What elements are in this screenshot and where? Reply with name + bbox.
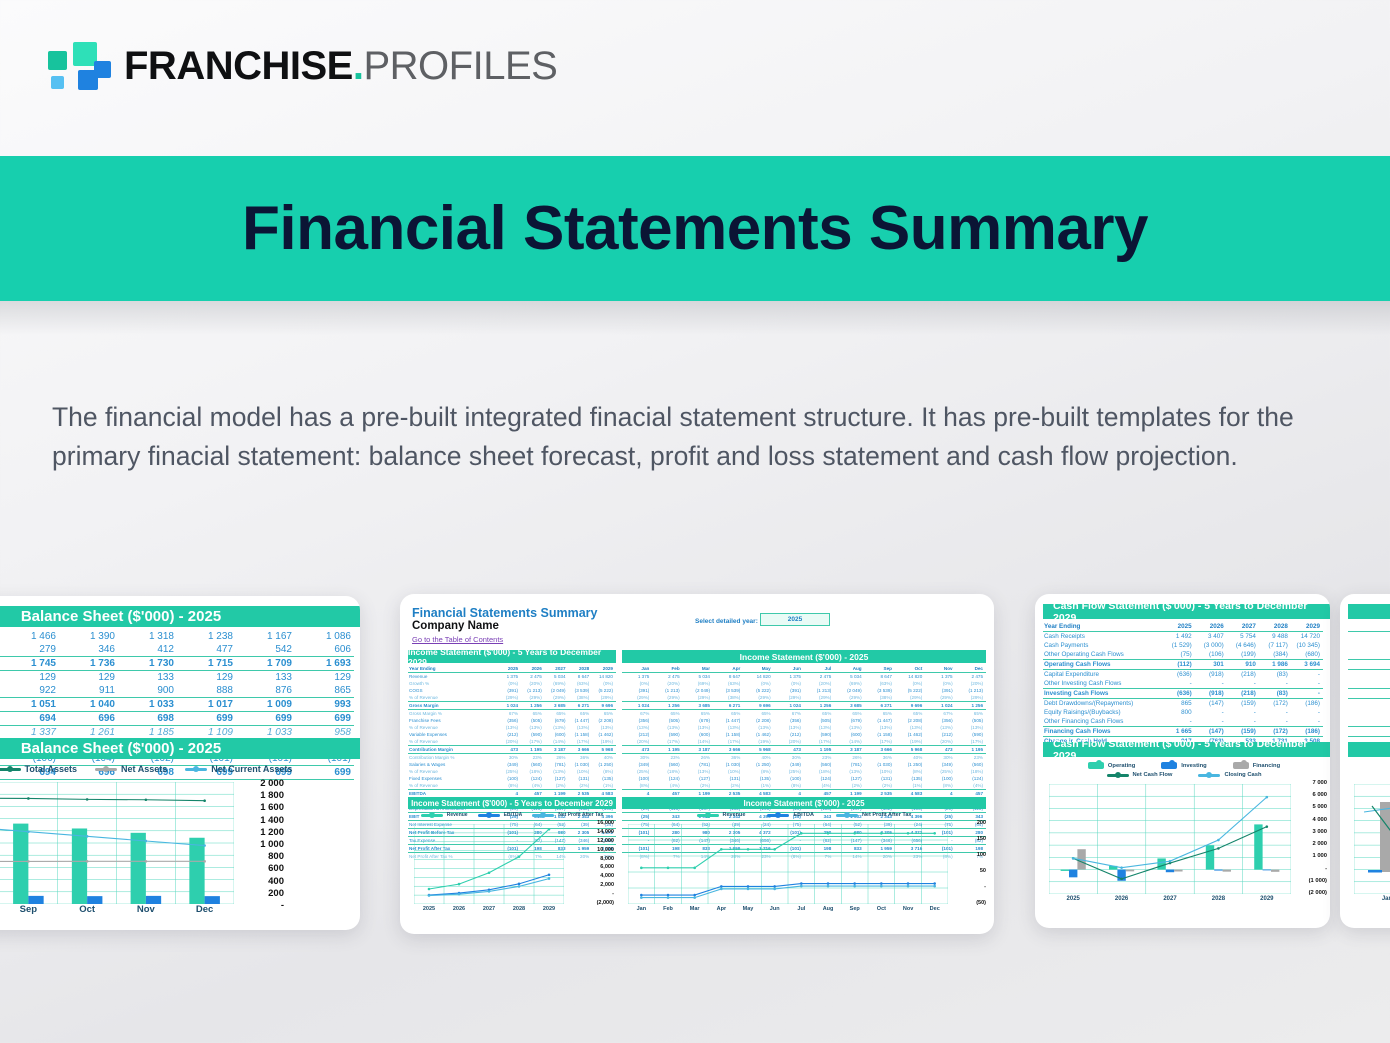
row-label: Other Investing Cash Flows: [1043, 679, 1163, 689]
table-cell: (147): [1195, 699, 1227, 709]
table-cell: (505): [956, 717, 986, 724]
row-label: Other Financing Cash Flows: [1043, 717, 1163, 727]
table-cell: 5 034: [834, 673, 864, 681]
table-cell: (1 213): [652, 687, 682, 694]
table-cell: 1 261: [59, 726, 118, 740]
year-selector-label: Select detailed year:: [695, 618, 758, 625]
monthly-cf-table-band: [1348, 604, 1390, 619]
table-cell: (25%): [774, 768, 804, 775]
table-cell: (10%): [713, 768, 743, 775]
table-cell: 5 968: [592, 746, 616, 754]
year-selector-input[interactable]: 2025: [760, 613, 830, 626]
legend-label: Net Current Assets: [211, 764, 292, 774]
axis-tick: 10,000: [597, 847, 614, 853]
axis-tick: 7 000: [1312, 780, 1327, 786]
table-cell: (391): [622, 687, 652, 694]
table-cell: 23%: [521, 754, 545, 762]
table-row: Revenue1 3752 4755 0348 64714 820: [408, 673, 616, 681]
table-row: (22): [1348, 660, 1390, 670]
table-cell: 699: [295, 712, 354, 726]
axis-tick: 4 000: [1312, 817, 1327, 823]
table-cell: (4 646): [1227, 641, 1259, 650]
table-cell: (560): [521, 761, 545, 768]
table-cell: Aug: [834, 665, 864, 673]
table-cell: 1 736: [59, 657, 118, 671]
table-row: -: [1348, 717, 1390, 727]
axis-tick: (50): [976, 900, 986, 906]
axis-tick: Oct: [58, 904, 117, 915]
cash-flow-card[interactable]: Cash Flow Statement ($'000) - 5 Years to…: [1035, 594, 1330, 928]
table-cell: 14 720: [1291, 632, 1323, 642]
legend-row: Net Cash FlowClosing Cash: [1049, 772, 1319, 778]
table-cell: (159): [1227, 699, 1259, 709]
table-cell: (1 529): [1163, 641, 1195, 650]
table-cell: (29%): [497, 694, 521, 702]
table-cell: (2%): [713, 782, 743, 790]
table-row: Cash Receipts1 4923 4075 7549 48814 720: [1043, 632, 1323, 642]
table-cell: 1 024: [925, 702, 955, 710]
row-label: % of Revenue: [408, 694, 497, 702]
table-cell: 699: [177, 712, 236, 726]
table-cell: (13%): [834, 768, 864, 775]
axis-tick: May: [735, 906, 762, 912]
table-cell: 1 256: [521, 702, 545, 710]
legend-item: Net Cash Flow: [1107, 772, 1173, 778]
axis-tick: 2027: [1146, 896, 1194, 902]
axis-tick: -: [984, 884, 986, 890]
axis-tick: Sep: [0, 904, 58, 915]
table-cell: (391): [925, 687, 955, 694]
legend-label: Revenue: [447, 812, 468, 818]
balance-sheet-card[interactable]: Balance Sheet ($'000) - 2025 1 5711 5171…: [0, 596, 360, 930]
table-cell: (25%): [925, 768, 955, 775]
monthly-cf-x-axis: Jan: [1354, 896, 1390, 902]
table-cell: 473: [622, 746, 652, 754]
table-row: 1 5711 5171 4661 3901 3181 2381 1671 086: [0, 630, 354, 643]
row-label: % of Revenue: [408, 782, 497, 790]
table-cell: 23%: [804, 754, 834, 762]
table-cell: (18%): [652, 768, 682, 775]
table-cell: 1 745: [0, 657, 59, 671]
table-cell: (781): [545, 761, 569, 768]
table-cell: (1 462): [743, 731, 773, 738]
table-cell: 1 195: [521, 746, 545, 754]
table-cell: -: [1291, 708, 1323, 717]
income-5y-chart: [414, 824, 564, 904]
table-row: Capital Expenditure(636)(918)(218)(83)-: [1043, 670, 1323, 680]
table-cell: 800: [1163, 708, 1195, 717]
table-cell: (186): [1291, 727, 1323, 737]
table-cell: (505): [804, 717, 834, 724]
table-cell: 473: [774, 746, 804, 754]
table-cell: (127): [834, 775, 864, 782]
row-label: Growth %: [408, 680, 497, 687]
table-cell: (29%): [592, 694, 616, 702]
table-cell: (18%): [521, 768, 545, 775]
monthly-cash-flow-card[interactable]: Jan32(47)(7)(22)(36)-(36)989800-1 7891 7…: [1340, 594, 1390, 928]
table-row: -: [1348, 679, 1390, 689]
table-cell: 1 256: [652, 702, 682, 710]
table-row: (391)(1 213)(2 049)(3 539)(5 222)(391)(1…: [622, 687, 986, 694]
table-row: 178212279346412477542606: [0, 643, 354, 657]
table-cell: (679): [545, 717, 569, 724]
table-cell: (2 049): [683, 687, 713, 694]
axis-tick: Mar: [681, 906, 708, 912]
legend-item: Operating: [1088, 762, 1135, 769]
table-cell: (100): [925, 775, 955, 782]
row-label: Operating Cash Flows: [1043, 660, 1163, 670]
table-cell: (636): [1163, 670, 1195, 680]
table-cell: (127): [683, 775, 713, 782]
table-cell: 958: [295, 726, 354, 740]
row-label: Investing Cash Flows: [1043, 689, 1163, 699]
table-row: JanFebMarAprMayJunJulAugSepOctNovDec: [622, 665, 986, 673]
table-cell: (13%): [743, 724, 773, 731]
table-cell: 1 375: [925, 673, 955, 681]
table-cell: (100): [622, 775, 652, 782]
table-cell: 1 986: [1259, 660, 1291, 670]
table-cell: -: [1163, 717, 1195, 727]
axis-tick: Sep: [841, 906, 868, 912]
axis-tick: 2025: [1049, 896, 1097, 902]
table-cell: (3 539): [713, 687, 743, 694]
table-cell: (29%): [925, 694, 955, 702]
table-cell: 9 696: [895, 702, 925, 710]
table-cell: (14%): [834, 738, 864, 746]
row-label: % of Revenue: [408, 768, 497, 775]
table-cell: (20%): [774, 738, 804, 746]
table-row: (20%)(17%)(14%)(17%)(19%)(20%)(17%)(14%)…: [622, 738, 986, 746]
legend-label: Operating: [1108, 763, 1135, 769]
table-cell: (1%): [743, 782, 773, 790]
axis-tick: 2028: [1194, 896, 1242, 902]
axis-tick: 1 000: [1312, 853, 1327, 859]
table-cell: (20%): [622, 738, 652, 746]
legend-swatch: [95, 768, 117, 771]
table-cell: (131): [865, 775, 895, 782]
table-cell: (29%): [804, 694, 834, 702]
table-row: 101104129129133129133129: [0, 671, 354, 685]
table-cell: (13%): [683, 768, 713, 775]
monthly-cf-chart-band: [1348, 742, 1390, 757]
table-cell: (5 222): [592, 687, 616, 694]
table-cell: 36%: [713, 754, 743, 762]
table-cell: 1 024: [622, 702, 652, 710]
table-cell: 2028: [569, 665, 593, 673]
table-cell: 1 715: [177, 657, 236, 671]
table-cell: (7): [1348, 650, 1390, 660]
table-cell: (0%): [774, 680, 804, 687]
table-cell: Oct: [895, 665, 925, 673]
table-cell: (29%): [895, 694, 925, 702]
table-cell: 694: [0, 712, 59, 726]
income-5y-y-axis: 16,00014,00012,00010,0008,0006,0004,0002…: [566, 820, 614, 908]
table-row: (356)(505)(679)(1 447)(2 208)(356)(505)(…: [622, 717, 986, 724]
table-cell: 129: [295, 671, 354, 685]
table-cell: (1 447): [713, 717, 743, 724]
income-5y-chart-band: Income Statement ($'000) - 5 Years to De…: [408, 797, 616, 809]
table-row: Gross Margin %67%65%65%65%65%: [408, 710, 616, 718]
legend-swatch: [1107, 774, 1129, 777]
table-cell: (4%): [652, 782, 682, 790]
row-label: % of Revenue: [408, 738, 497, 746]
table-cell: (100): [497, 775, 521, 782]
income-statement-card[interactable]: Financial Statements Summary Company Nam…: [400, 594, 994, 934]
table-cell: (8%): [592, 768, 616, 775]
legend-swatch: [1088, 762, 1104, 769]
table-cell: 5 034: [683, 673, 713, 681]
legend-swatch: [767, 814, 789, 817]
legend-label: EBITDA: [504, 812, 523, 818]
table-cell: (124): [652, 775, 682, 782]
income-5y-legend: RevenueEBITDANet Profit After Tax: [408, 812, 616, 818]
legend-item: Revenue: [421, 812, 468, 818]
table-row: 945934922911900888876865: [0, 684, 354, 698]
axis-tick: 400: [268, 876, 284, 887]
table-cell: (1 158): [713, 731, 743, 738]
table-cell: Jan: [622, 665, 652, 673]
axis-tick: 2026: [1097, 896, 1145, 902]
table-cell: (29%): [683, 694, 713, 702]
table-row: (13%)(13%)(13%)(13%)(13%)(13%)(13%)(13%)…: [622, 724, 986, 731]
table-cell: 1 693: [295, 657, 354, 671]
table-cell: (13%): [497, 724, 521, 731]
balance-sheet-legend: Current LiabilitiesTotal AssetsNet Asset…: [0, 764, 360, 774]
table-cell: -: [1227, 708, 1259, 717]
table-cell: (10%): [865, 768, 895, 775]
row-label: Cash Payments: [1043, 641, 1163, 650]
row-label: Revenue: [408, 673, 497, 681]
row-label: COGS: [408, 687, 497, 694]
table-cell: 1 185: [118, 726, 177, 740]
table-cell: 1 337: [0, 726, 59, 740]
table-cell: (20%): [497, 738, 521, 746]
table-cell: 8 647: [713, 673, 743, 681]
legend-swatch: [1198, 774, 1220, 777]
axis-tick: 2027: [474, 906, 504, 912]
axis-tick: 2029: [534, 906, 564, 912]
legend-swatch: [1233, 762, 1249, 769]
table-cell: (590): [804, 731, 834, 738]
table-cell: 3 685: [545, 702, 569, 710]
table-cell: 3 685: [683, 702, 713, 710]
table-cell: 1 466: [0, 630, 59, 643]
table-cell: 922: [0, 684, 59, 698]
table-cell: 36%: [569, 754, 593, 762]
table-cell: -: [1291, 670, 1323, 680]
axis-tick: (2,000): [597, 900, 614, 906]
table-cell: 2027: [545, 665, 569, 673]
table-cell: (384): [1259, 650, 1291, 660]
table-cell: 1 730: [118, 657, 177, 671]
table-cell: (356): [497, 717, 521, 724]
table-row: (349)(560)(781)(1 030)(1 250)(349)(560)(…: [622, 761, 986, 768]
table-cell: (172): [1259, 727, 1291, 737]
table-cell: -: [1163, 679, 1195, 689]
table-cell: 5 754: [1227, 632, 1259, 642]
axis-tick: 4,000: [600, 873, 614, 879]
axis-tick: 14,000: [597, 829, 614, 835]
table-cell: 1 195: [804, 746, 834, 754]
table-cell: 1 256: [956, 702, 986, 710]
table-cell: Sep: [865, 665, 895, 673]
table-cell: 473: [497, 746, 521, 754]
page-header: FRANCHISE.PROFILES: [0, 0, 1390, 155]
table-row: Debt Drawdowns/(Repayments)865(147)(159)…: [1043, 699, 1323, 709]
table-cell: 876: [236, 684, 295, 698]
body-paragraph: The financial model has a pre-built inte…: [52, 398, 1337, 476]
table-cell: 2029: [592, 665, 616, 673]
legend-item: Net Current Assets: [185, 764, 292, 774]
axis-tick: 5 000: [1312, 804, 1327, 810]
table-cell: (17%): [569, 738, 593, 746]
axis-tick: Oct: [868, 906, 895, 912]
table-row: (8%)(4%)(2%)(2%)(1%)(8%)(4%)(2%)(2%)(1%)…: [622, 782, 986, 790]
table-cell: 8 647: [865, 673, 895, 681]
table-cell: (29%): [545, 694, 569, 702]
table-of-contents-link[interactable]: Go to the Table of Contents: [412, 635, 503, 644]
table-cell: (135): [743, 775, 773, 782]
table-cell: 477: [177, 643, 236, 657]
table-cell: (8%): [774, 782, 804, 790]
table-row: (212)(590)(600)(1 158)(1 462)(212)(590)(…: [622, 731, 986, 738]
table-cell: (25%): [497, 768, 521, 775]
table-row: (100)(124)(127)(131)(135)(100)(124)(127)…: [622, 775, 986, 782]
table-cell: (5 222): [743, 687, 773, 694]
income-year-x-axis: JanFebMarAprMayJunJulAugSepOctNovDec: [628, 906, 948, 912]
table-cell: (36): [1348, 689, 1390, 699]
table-cell: -: [1195, 708, 1227, 717]
axis-tick: Dec: [175, 904, 234, 915]
axis-tick: 1 800: [260, 790, 284, 801]
table-cell: -: [1291, 679, 1323, 689]
table-cell: (349): [925, 761, 955, 768]
monthly-cf-chart: [1354, 784, 1390, 894]
table-cell: -: [1195, 717, 1227, 727]
table-cell: Apr: [713, 665, 743, 673]
axis-tick: 3 000: [1312, 829, 1327, 835]
row-label: Salaries & Wages: [408, 761, 497, 768]
table-row: Investing Cash Flows(636)(918)(218)(83)-: [1043, 689, 1323, 699]
axis-tick: 2025: [414, 906, 444, 912]
table-cell: 542: [236, 643, 295, 657]
row-label: Franchise Fees: [408, 717, 497, 724]
table-cell: -: [1259, 717, 1291, 727]
table-cell: (1 250): [895, 761, 925, 768]
table-cell: (8%): [743, 768, 773, 775]
table-cell: (13%): [592, 724, 616, 731]
axis-tick: 200: [268, 888, 284, 899]
table-cell: (212): [774, 731, 804, 738]
table-cell: (0%): [592, 680, 616, 687]
row-label: Debt Drawdowns/(Repayments): [1043, 699, 1163, 709]
table-cell: (17%): [956, 738, 986, 746]
table-cell: (349): [622, 761, 652, 768]
table-cell: 1 086: [295, 630, 354, 643]
table-cell: (8%): [925, 782, 955, 790]
table-cell: -: [1348, 679, 1390, 689]
table-cell: (20%): [521, 680, 545, 687]
legend-item: Total Assets: [0, 764, 77, 774]
table-cell: 473: [925, 746, 955, 754]
axis-tick: 1 000: [260, 839, 284, 850]
table-cell: (20%): [652, 680, 682, 687]
table-cell: (2%): [865, 782, 895, 790]
table-row: 989: [1348, 699, 1390, 709]
table-cell: 3 666: [865, 746, 895, 754]
table-cell: (124): [521, 775, 545, 782]
table-cell: (13%): [956, 724, 986, 731]
table-cell: (199): [1227, 650, 1259, 660]
table-cell: (38%): [713, 694, 743, 702]
table-cell: (560): [652, 761, 682, 768]
table-cell: 1 492: [1163, 632, 1195, 642]
table-cell: May: [743, 665, 773, 673]
table-cell: (1 250): [743, 761, 773, 768]
table-cell: 1 256: [804, 702, 834, 710]
axis-tick: 1 200: [260, 827, 284, 838]
table-cell: 910: [1227, 660, 1259, 670]
table-cell: (2%): [834, 782, 864, 790]
row-label: Contribution Margin %: [408, 754, 497, 762]
table-cell: (560): [956, 761, 986, 768]
table-cell: (2%): [545, 782, 569, 790]
table-cell: (1%): [592, 782, 616, 790]
table-cell: (1 158): [569, 731, 593, 738]
income-card-title: Financial Statements Summary: [412, 606, 597, 620]
row-label: Fixed Expenses: [408, 775, 497, 782]
table-cell: 699: [236, 712, 295, 726]
table-cell: 696: [59, 712, 118, 726]
table-row: 30%23%26%36%40%30%23%26%36%40%30%23%: [622, 754, 986, 762]
table-row: Fixed Expenses(100)(124)(127)(131)(135): [408, 775, 616, 782]
table-row: Year Ending20252026202720282029: [1043, 622, 1323, 632]
table-cell: Mar: [683, 665, 713, 673]
axis-tick: 2028: [504, 906, 534, 912]
brand-wordmark: FRANCHISE.PROFILES: [124, 46, 557, 86]
axis-tick: -: [612, 891, 614, 897]
table-cell: (13%): [804, 724, 834, 731]
table-cell: (590): [521, 731, 545, 738]
cash-flow-table-title: Cash Flow Statement ($'000) - 5 Years to…: [1043, 604, 1330, 619]
table-cell: (13%): [545, 724, 569, 731]
axis-tick: Jan: [628, 906, 655, 912]
table-cell: (17%): [804, 738, 834, 746]
table-cell: 67%: [925, 710, 955, 718]
table-cell: (13%): [774, 724, 804, 731]
table-cell: (1 462): [592, 731, 616, 738]
table-cell: 698: [118, 712, 177, 726]
axis-tick: Nov: [895, 906, 922, 912]
table-cell: -: [1259, 708, 1291, 717]
table-cell: 800: [1348, 708, 1390, 717]
table-cell: 1 238: [177, 630, 236, 643]
cash-flow-x-axis: 20252026202720282029: [1049, 896, 1291, 902]
table-cell: (19%): [895, 738, 925, 746]
table-cell: 65%: [683, 710, 713, 718]
table-cell: (212): [497, 731, 521, 738]
table-cell: (29%): [956, 694, 986, 702]
table-cell: (13%): [925, 724, 955, 731]
table-cell: 40%: [743, 754, 773, 762]
table-row: Cash Payments(1 529)(3 000)(4 646)(7 117…: [1043, 641, 1323, 650]
axis-tick: 2026: [444, 906, 474, 912]
table-cell: (69%): [545, 680, 569, 687]
cash-flow-y-axis: 7 0006 0005 0004 0003 0002 0001 000-(1 0…: [1291, 780, 1327, 898]
table-cell: (1 213): [521, 687, 545, 694]
table-cell: 2025: [497, 665, 521, 673]
axis-tick: (1 000): [1309, 878, 1327, 884]
